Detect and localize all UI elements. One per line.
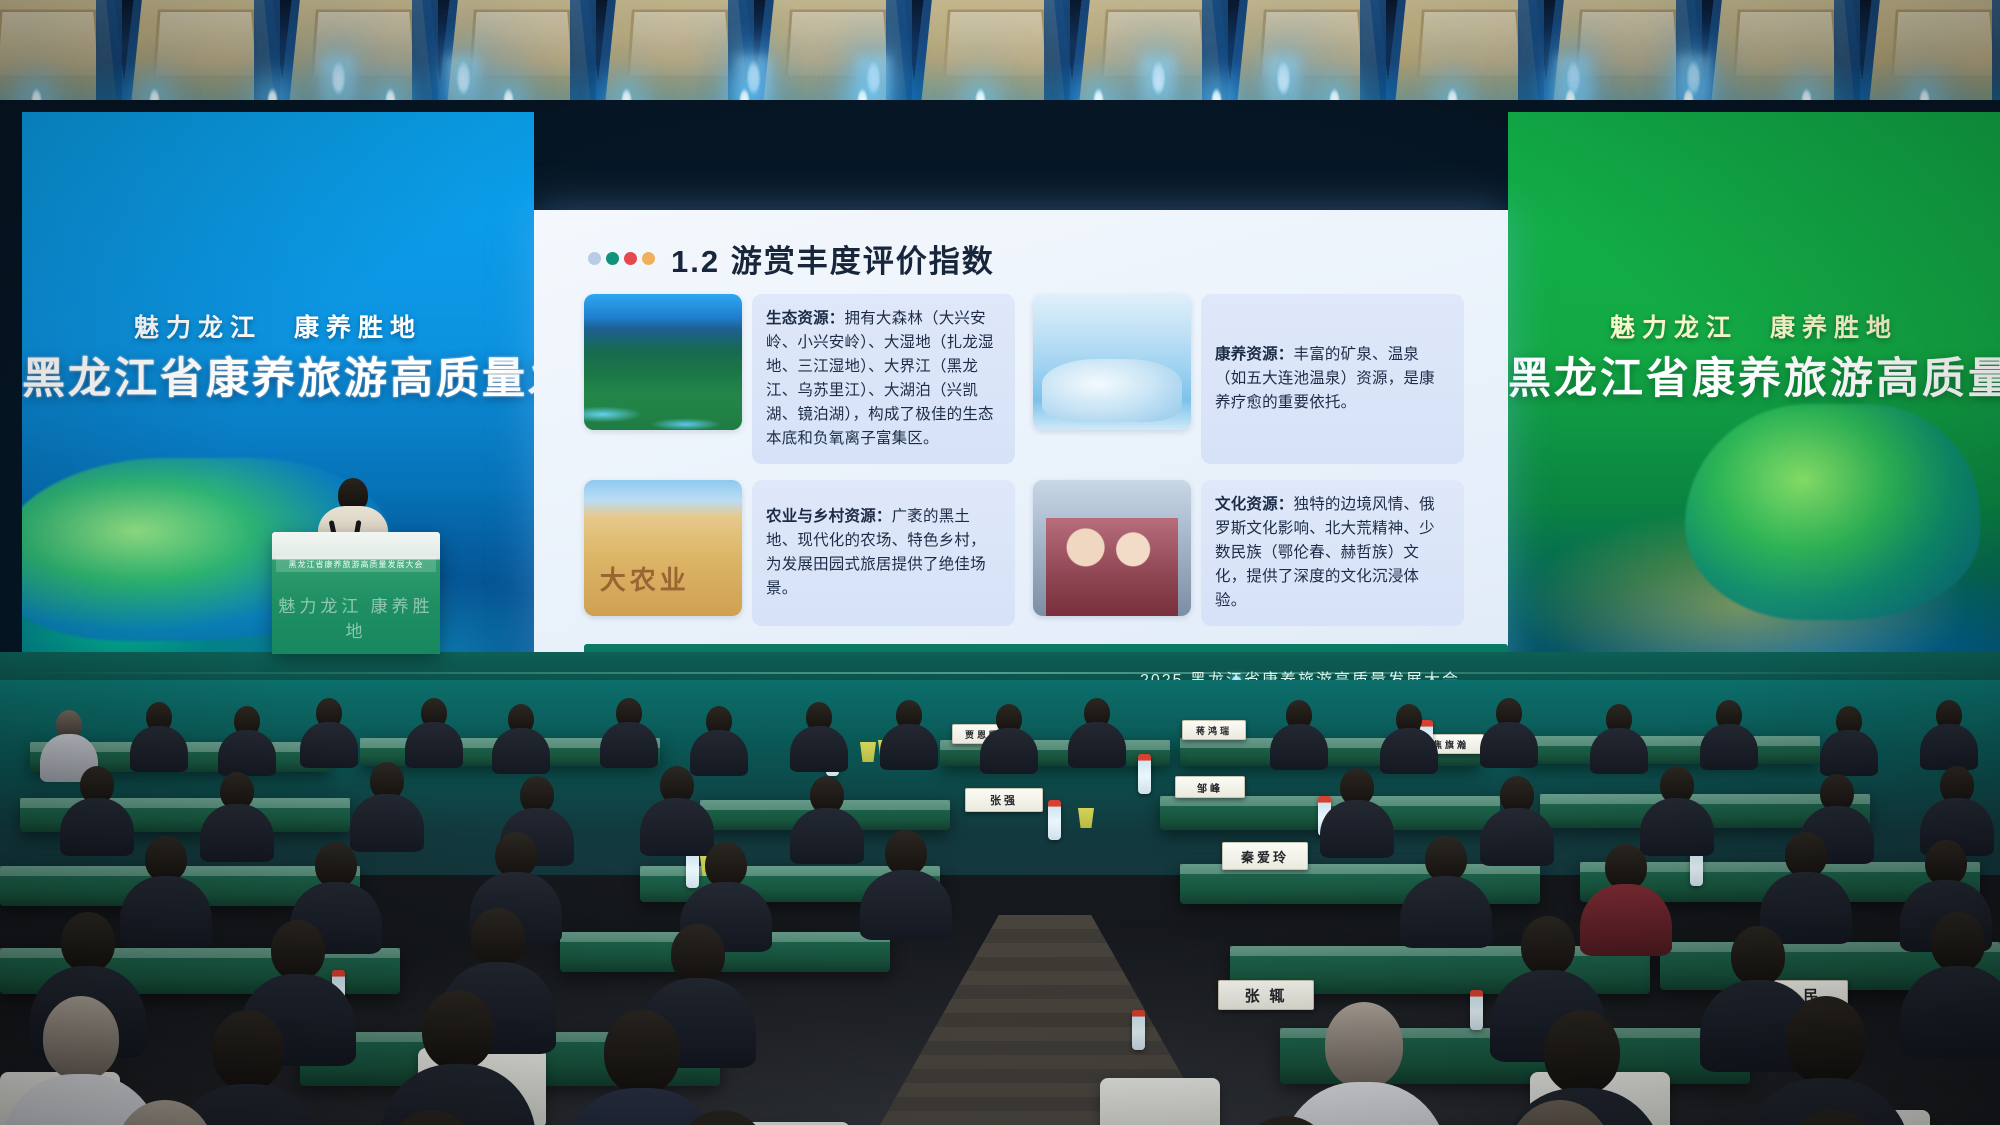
audience-member-body <box>790 726 848 772</box>
banner-subtitle-left: 魅力龙江 康养胜地 <box>22 308 534 344</box>
name-placard: 蒋鸿瑞 <box>1182 720 1246 740</box>
audience-member-head <box>212 1010 284 1090</box>
audience-member-body <box>120 876 212 948</box>
resource-card: 康养资源：丰富的矿泉、温泉（如五大连池温泉）资源，是康养疗愈的重要依托。 <box>1033 294 1464 464</box>
audience-member-body <box>790 808 864 864</box>
banner-title-right: 黑龙江省康养旅游高质量发展大会 <box>1508 344 2000 406</box>
resource-card: 文化资源：独特的边境风情、俄罗斯文化影响、北大荒精神、少数民族（鄂伦春、赫哲族）… <box>1033 480 1464 626</box>
audience-member-head <box>471 908 525 968</box>
audience-member-head <box>1931 912 1985 972</box>
water-bottle <box>1138 754 1151 794</box>
audience-member-body <box>1068 722 1126 768</box>
resource-card-label: 生态资源： <box>766 310 845 327</box>
slide-bullet-dot-2 <box>606 252 619 265</box>
audience-member-head <box>1731 926 1785 986</box>
table-cloth <box>1520 736 1820 746</box>
audience-member-body <box>200 804 274 862</box>
banner-title-left: 黑龙江省康养旅游高质量发展大会 <box>22 344 534 406</box>
audience-member-head <box>1544 1010 1620 1094</box>
audience-member-body <box>1820 730 1878 776</box>
audience-member-body <box>1380 728 1438 774</box>
slide-bullet-dot-1 <box>588 252 601 265</box>
resource-card-label: 康养资源： <box>1215 346 1294 363</box>
audience-member-body <box>405 722 463 768</box>
band-divider-line <box>0 672 2000 674</box>
audience-member-head <box>43 996 119 1080</box>
hot-spring-photo <box>1033 294 1191 430</box>
audience-member-head <box>604 1010 680 1094</box>
slide-bullet-dot-3 <box>624 252 637 265</box>
audience-member-body <box>1320 800 1394 858</box>
audience-area: 贾恩耀蒋鸿瑞邹峰焦旗瀚张强秦爱玲张 辄吴 民 <box>0 680 2000 1125</box>
slide-bullet-dots <box>588 252 655 265</box>
slide-bullet-dot-4 <box>642 252 655 265</box>
audience-member-body <box>640 798 714 856</box>
forest-river-photo <box>584 294 742 430</box>
led-right-island-graphic <box>1685 404 1980 620</box>
audience-member-body <box>880 724 938 770</box>
resource-card-text: 农业与乡村资源：广袤的黑土地、现代化的农场、特色乡村，为发展田园式旅居提供了绝佳… <box>752 480 1015 626</box>
audience-member-body <box>1640 798 1714 856</box>
podium-banner-strip: 黑龙江省康养旅游高质量发展大会 <box>276 556 436 572</box>
audience-chair <box>1100 1078 1220 1125</box>
resource-card-text: 文化资源：独特的边境风情、俄罗斯文化影响、北大荒精神、少数民族（鄂伦春、赫哲族）… <box>1201 480 1464 626</box>
resource-card-grid: 生态资源：拥有大森林（大兴安岭、小兴安岭）、大湿地（扎龙湿地、三江湿地）、大界江… <box>584 294 1464 626</box>
audience-member-body <box>980 728 1038 774</box>
audience-member-head <box>422 990 494 1070</box>
water-bottle <box>1132 1010 1145 1050</box>
resource-card-text: 生态资源：拥有大森林（大兴安岭、小兴安岭）、大湿地（扎龙湿地、三江湿地）、大界江… <box>752 294 1015 464</box>
resource-card-body: 拥有大森林（大兴安岭、小兴安岭）、大湿地（扎龙湿地、三江湿地）、大界江（黑龙江、… <box>766 310 994 447</box>
farmland-photo <box>584 480 742 616</box>
audience-member-body <box>690 730 748 776</box>
water-bottle <box>1470 990 1483 1030</box>
slide-title: 1.2 游赏丰度评价指数 <box>671 236 995 281</box>
resource-card-label: 农业与乡村资源： <box>766 508 892 525</box>
audience-member-body <box>1480 722 1538 768</box>
audience-member-head <box>1325 1002 1403 1088</box>
audience-member-body <box>600 722 658 768</box>
audience-member-body <box>350 794 424 852</box>
audience-member-body <box>860 870 952 940</box>
audience-member-head <box>1521 916 1575 976</box>
name-placard: 张 辄 <box>1218 980 1314 1010</box>
resource-card: 生态资源：拥有大森林（大兴安岭、小兴安岭）、大湿地（扎龙湿地、三江湿地）、大界江… <box>584 294 1015 464</box>
audience-member-body <box>1580 884 1672 956</box>
audience-member-body <box>492 728 550 774</box>
conference-table <box>1520 736 1820 764</box>
paper-cup <box>1078 808 1094 828</box>
audience-member-head <box>61 912 115 972</box>
audience-member-body <box>1590 728 1648 774</box>
audience-member-head <box>671 924 725 984</box>
audience-member-head <box>1786 996 1866 1084</box>
audience-member-body <box>218 730 276 776</box>
audience-member-body <box>300 722 358 768</box>
podium: 黑龙江省康养旅游高质量发展大会 魅力龙江 康养胜地 <box>272 532 440 654</box>
name-placard: 秦爱玲 <box>1222 842 1308 870</box>
audience-member-body <box>1920 724 1978 770</box>
ethnic-culture-photo <box>1033 480 1191 616</box>
resource-card-text: 康养资源：丰富的矿泉、温泉（如五大连池温泉）资源，是康养疗愈的重要依托。 <box>1201 294 1464 464</box>
paper-cup <box>860 742 876 762</box>
audience-member-body <box>1270 724 1328 770</box>
slide-title-row: 1.2 游赏丰度评价指数 <box>588 236 995 281</box>
audience-member-body <box>60 798 134 856</box>
audience-member-body <box>1480 808 1554 866</box>
name-placard: 张强 <box>965 788 1043 812</box>
water-bottle <box>1048 800 1061 840</box>
table-cloth <box>20 798 350 808</box>
podium-slogan: 魅力龙江 康养胜地 <box>272 592 440 642</box>
banner-subtitle-right: 魅力龙江 康养胜地 <box>1508 308 2000 344</box>
conference-hall-screenshot: 魅力龙江 康养胜地 黑龙江省康养旅游高质量发展大会 魅力龙江 康养胜地 黑龙江省… <box>0 0 2000 1125</box>
audience-member-body <box>1400 876 1492 948</box>
audience-member-body <box>1700 724 1758 770</box>
audience-member-head <box>271 920 325 980</box>
name-placard: 邹峰 <box>1175 776 1245 798</box>
resource-card-label: 文化资源： <box>1215 496 1294 513</box>
resource-card: 农业与乡村资源：广袤的黑土地、现代化的农场、特色乡村，为发展田园式旅居提供了绝佳… <box>584 480 1015 626</box>
led-panel-right: 魅力龙江 康养胜地 黑龙江省康养旅游高质量发展大会 <box>1508 112 2000 652</box>
audience-member-body <box>130 726 188 772</box>
